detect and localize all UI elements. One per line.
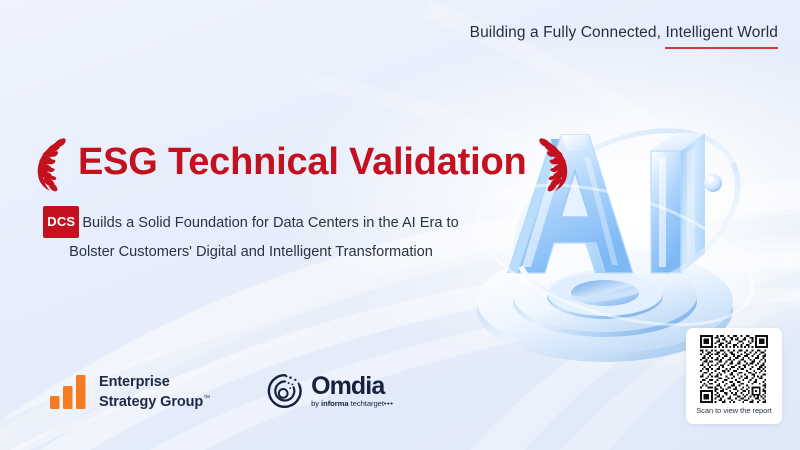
qr-code-icon[interactable] (697, 335, 771, 403)
omdia-byline-suffix: techtarget (349, 399, 384, 408)
laurel-branch-left-icon (30, 134, 74, 192)
subtitle-line-1: DCSBuilds a Solid Foundation for Data Ce… (26, 206, 476, 238)
trademark-symbol: ™ (203, 395, 210, 402)
tagline-prefix: Building a Fully Connected, (470, 24, 666, 41)
page-title: ESG Technical Validation (78, 143, 527, 183)
omdia-swirl-icon (266, 372, 304, 410)
esg-line-1: Enterprise (99, 374, 210, 391)
omdia-byline-brand: informa (321, 399, 349, 408)
logo-row: Enterprise Strategy Group™ (50, 372, 393, 410)
esg-line-2-text: Strategy Group (99, 393, 203, 409)
subtitle: DCSBuilds a Solid Foundation for Data Ce… (26, 206, 476, 267)
omdia-logo: Omdia by informa techtarget••• (266, 372, 393, 410)
esg-line-2: Strategy Group™ (99, 391, 210, 410)
bar-chart-icon (50, 375, 90, 409)
enterprise-strategy-group-logo: Enterprise Strategy Group™ (50, 373, 210, 409)
qr-card[interactable]: Scan to view the report (686, 328, 782, 424)
tagline-highlight: Intelligent World (665, 24, 778, 42)
tagline: Building a Fully Connected, Intelligent … (470, 24, 778, 42)
omdia-byline: by informa techtarget••• (311, 400, 393, 408)
esg-wordmark: Enterprise Strategy Group™ (99, 374, 210, 410)
title-row: ESG Technical Validation (30, 134, 575, 192)
subtitle-line-2: Bolster Customers' Digital and Intellige… (26, 238, 476, 267)
laurel-branch-right-icon (531, 134, 575, 192)
omdia-byline-dots: ••• (384, 399, 393, 408)
subtitle-line-1-text: Builds a Solid Foundation for Data Cente… (82, 215, 458, 231)
omdia-word: Omdia (311, 374, 393, 398)
omdia-byline-prefix: by (311, 399, 321, 408)
esg-technical-validation-banner: Building a Fully Connected, Intelligent … (0, 0, 800, 450)
qr-caption: Scan to view the report (696, 406, 772, 415)
dcs-badge: DCS (43, 206, 79, 238)
omdia-wordmark: Omdia by informa techtarget••• (311, 374, 393, 408)
